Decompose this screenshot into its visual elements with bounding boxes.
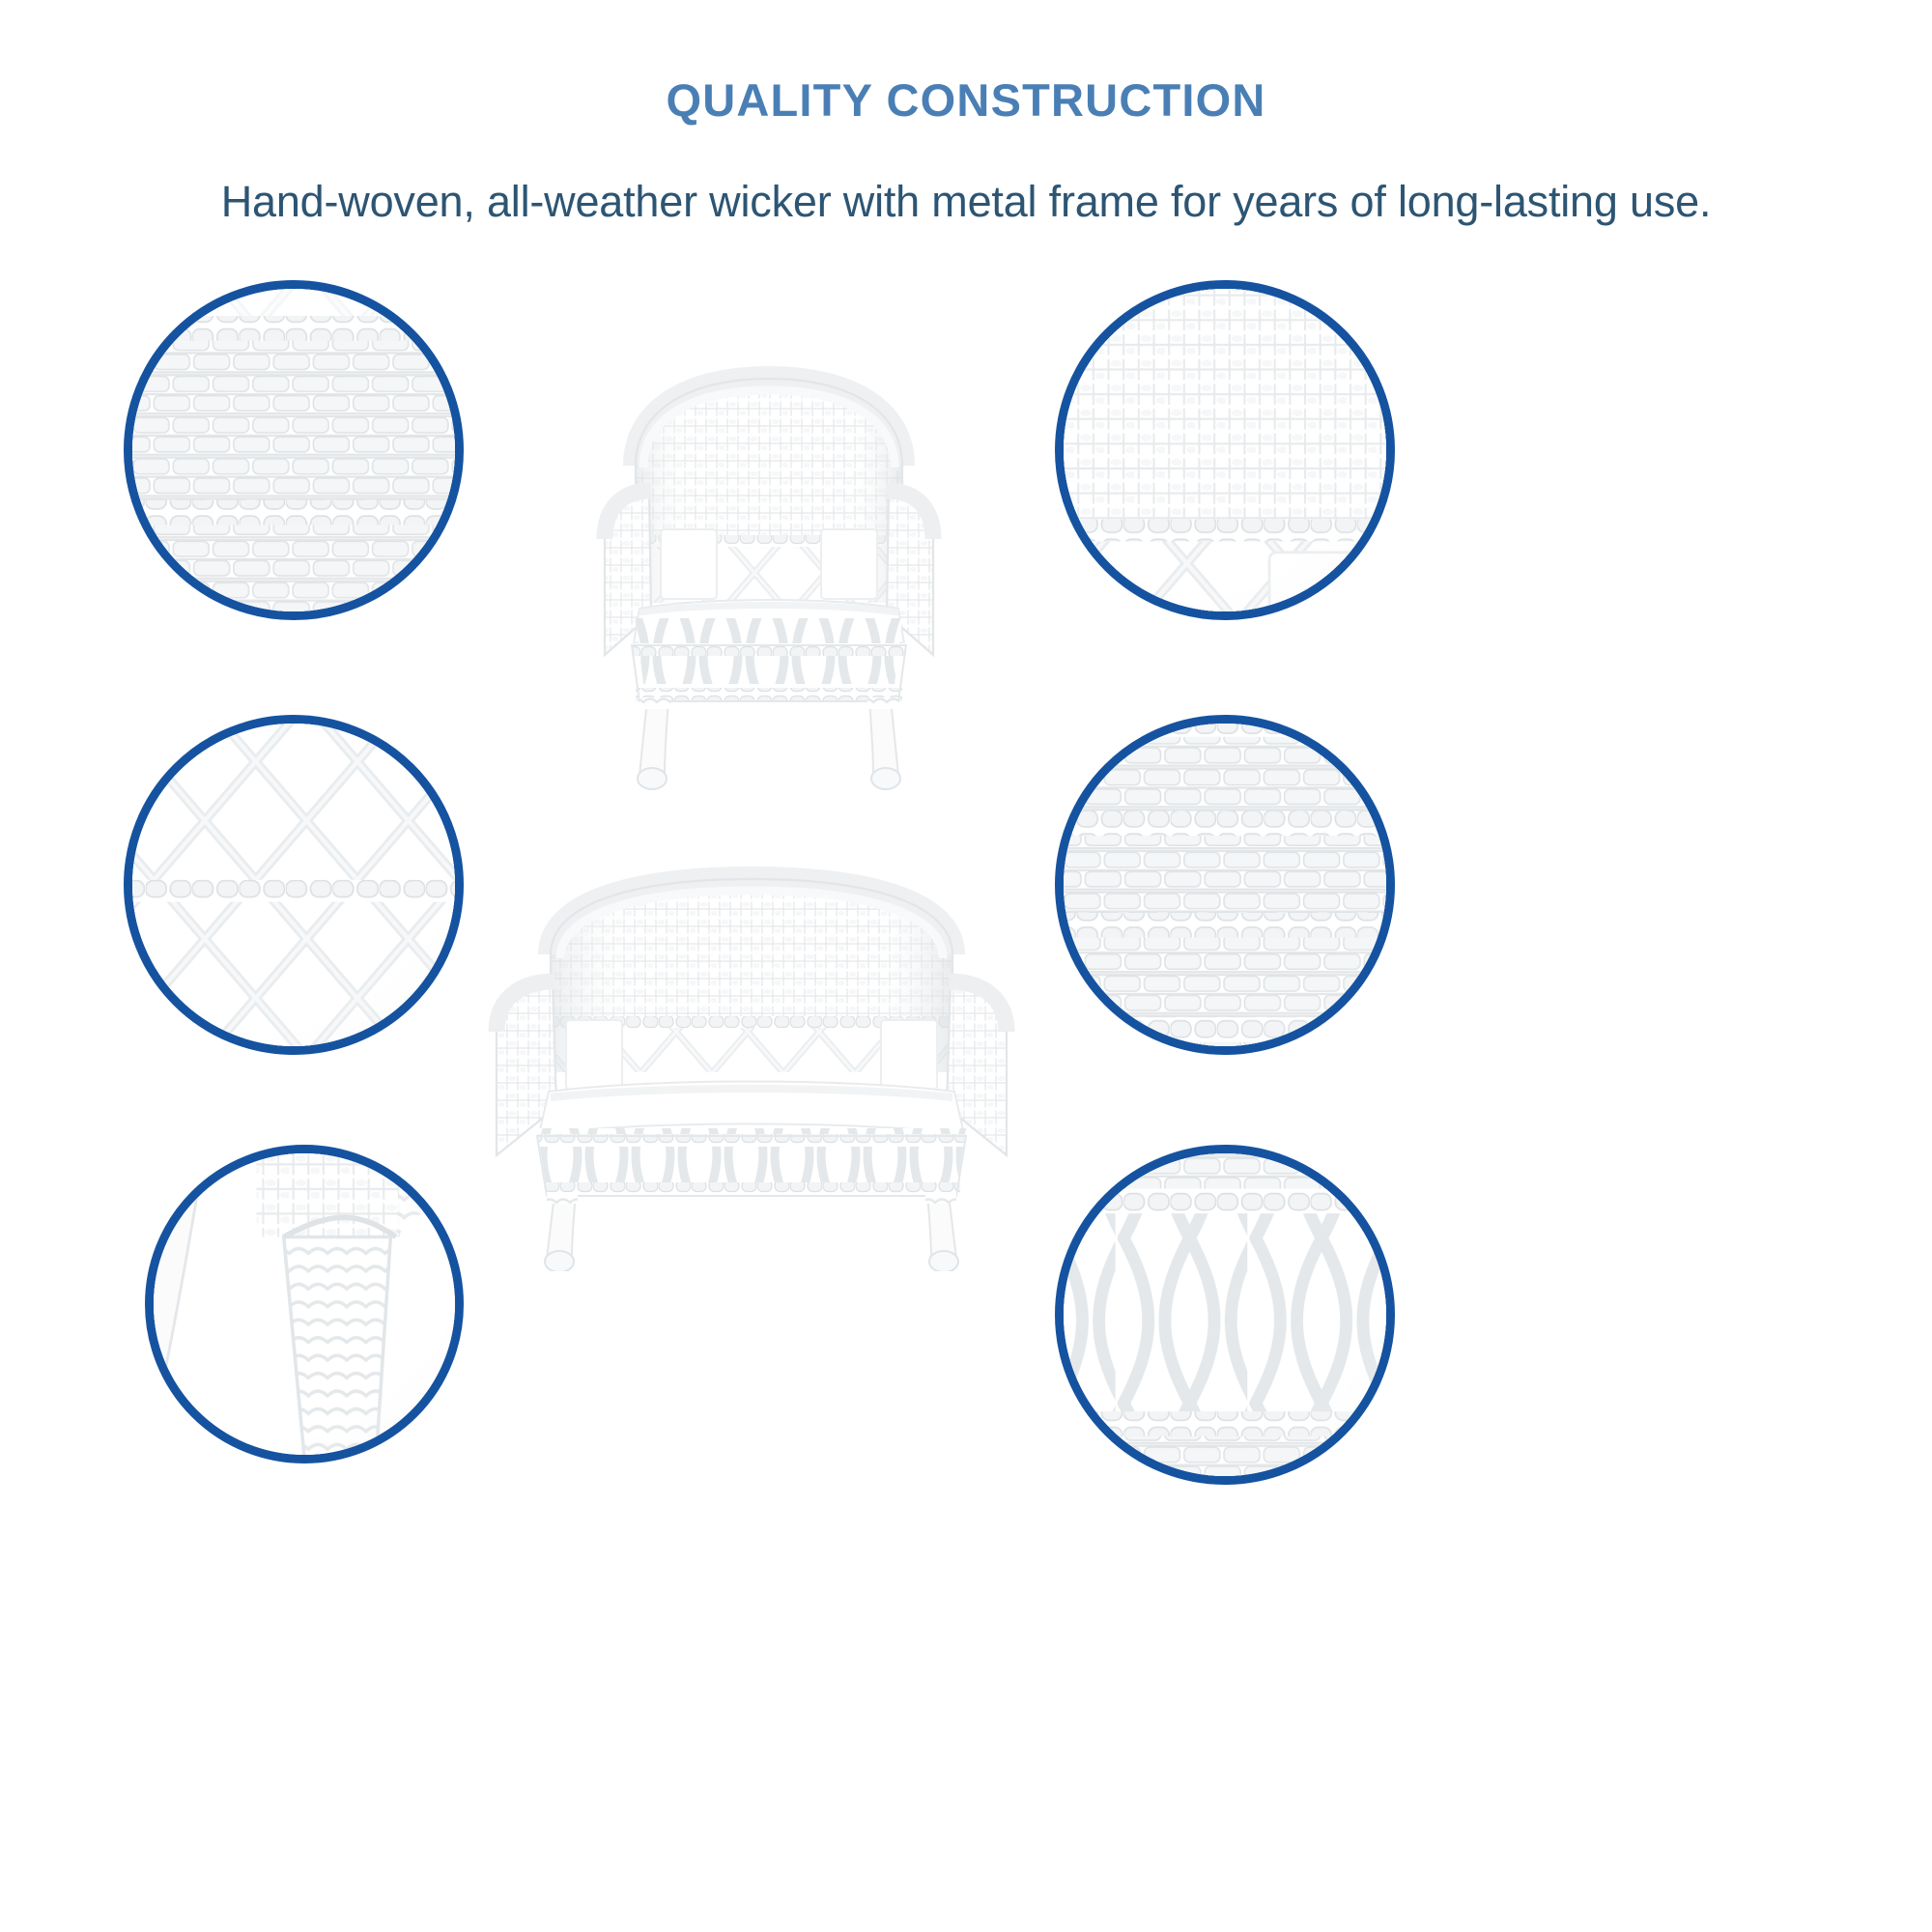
product-armchair[interactable] — [576, 365, 962, 796]
white-wicker-loveseat — [462, 866, 1041, 1271]
callout-bottom-left[interactable] — [145, 1145, 464, 1463]
wrapped-leg-joint-detail — [145, 1145, 464, 1463]
loveseat-seat — [539, 1082, 964, 1135]
white-wicker-armchair — [576, 365, 962, 796]
callout-middle-right[interactable] — [1055, 715, 1395, 1055]
chair-skirt — [632, 618, 906, 701]
chair-legs — [638, 697, 900, 789]
open-diamond-lattice-detail — [124, 715, 464, 1055]
infographic-stage — [0, 0, 1932, 1932]
callout-top-left[interactable] — [124, 280, 464, 620]
callout-top-right[interactable] — [1055, 280, 1395, 620]
curved-seat-weave-detail — [1055, 715, 1395, 1055]
callout-middle-left[interactable] — [124, 715, 464, 1055]
flat-basketweave-detail — [124, 280, 464, 620]
x-lattice-band-detail — [1055, 1145, 1395, 1485]
product-loveseat[interactable] — [462, 866, 1041, 1271]
chair-back-corner-detail — [1055, 280, 1395, 620]
callout-bottom-right[interactable] — [1055, 1145, 1395, 1485]
loveseat-legs — [545, 1192, 958, 1271]
